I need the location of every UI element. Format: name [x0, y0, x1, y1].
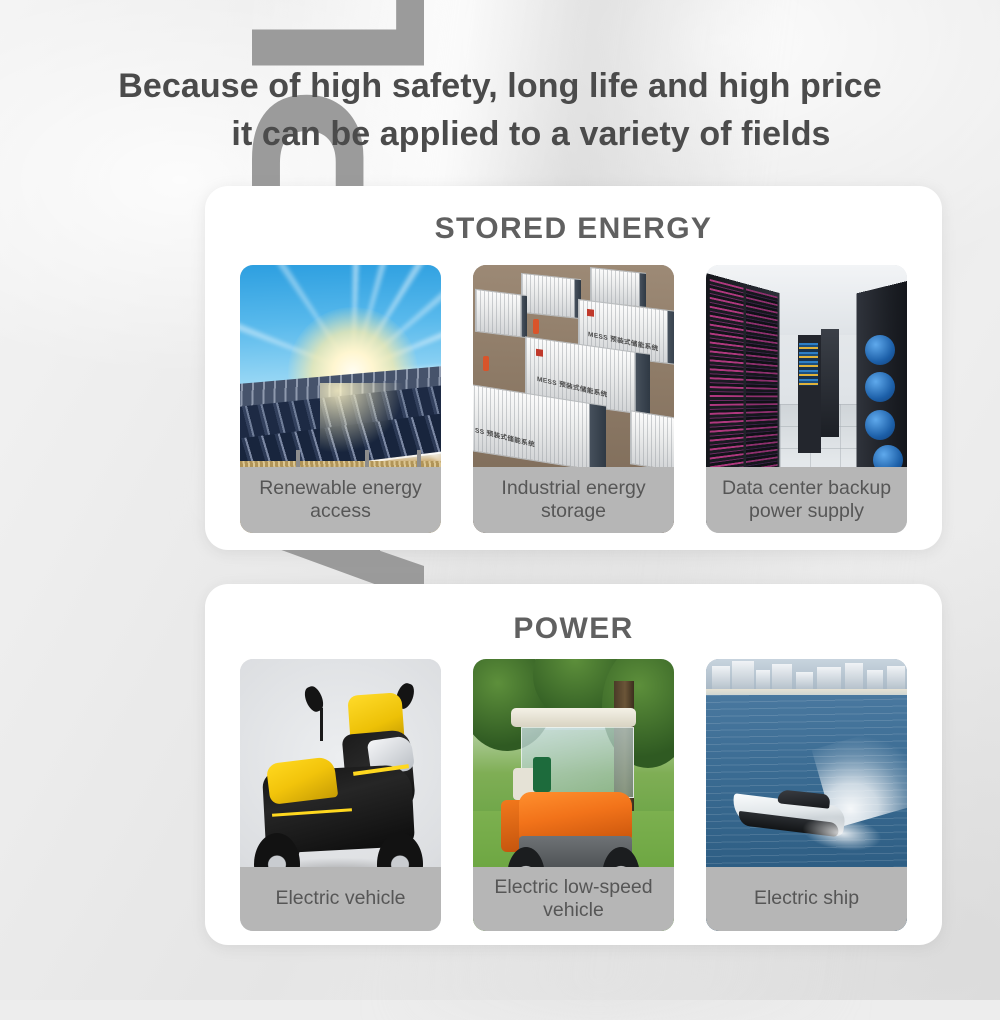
headline-line-2: it can be applied to a variety of fields: [0, 110, 1000, 158]
card-title-power: POWER: [205, 584, 942, 646]
tile-caption: Electric ship: [706, 867, 907, 931]
tile-grid-power: Electric vehicle Electric low-speed vehi…: [240, 659, 907, 931]
card-title-stored-energy: STORED ENERGY: [205, 186, 942, 246]
card-stored-energy: STORED ENERGY Renewable energy access: [205, 186, 942, 550]
tile-data-center-backup[interactable]: Data center backup power supply: [706, 265, 907, 533]
tile-caption: Electric low-speed vehicle: [473, 867, 674, 931]
tile-caption: Renewable energy access: [240, 467, 441, 533]
page-headline: Because of high safety, long life and hi…: [0, 62, 1000, 159]
tile-electric-vehicle[interactable]: Electric vehicle: [240, 659, 441, 931]
tile-electric-ship[interactable]: Electric ship: [706, 659, 907, 931]
tile-caption: Electric vehicle: [240, 867, 441, 931]
tile-electric-low-speed-vehicle[interactable]: Electric low-speed vehicle: [473, 659, 674, 931]
headline-line-1: Because of high safety, long life and hi…: [118, 67, 882, 105]
tile-caption: Data center backup power supply: [706, 467, 907, 533]
card-power: POWER Electric vehicle: [205, 584, 942, 945]
tile-caption: Industrial energy storage: [473, 467, 674, 533]
tile-renewable-energy-access[interactable]: Renewable energy access: [240, 265, 441, 533]
tile-industrial-energy-storage[interactable]: MESS 预装式储能系统 MESS 预装式储能系统 SS 预装式储能系统 Ind…: [473, 265, 674, 533]
tile-grid-stored-energy: Renewable energy access MESS 预装式储能系统 MES…: [240, 265, 907, 533]
